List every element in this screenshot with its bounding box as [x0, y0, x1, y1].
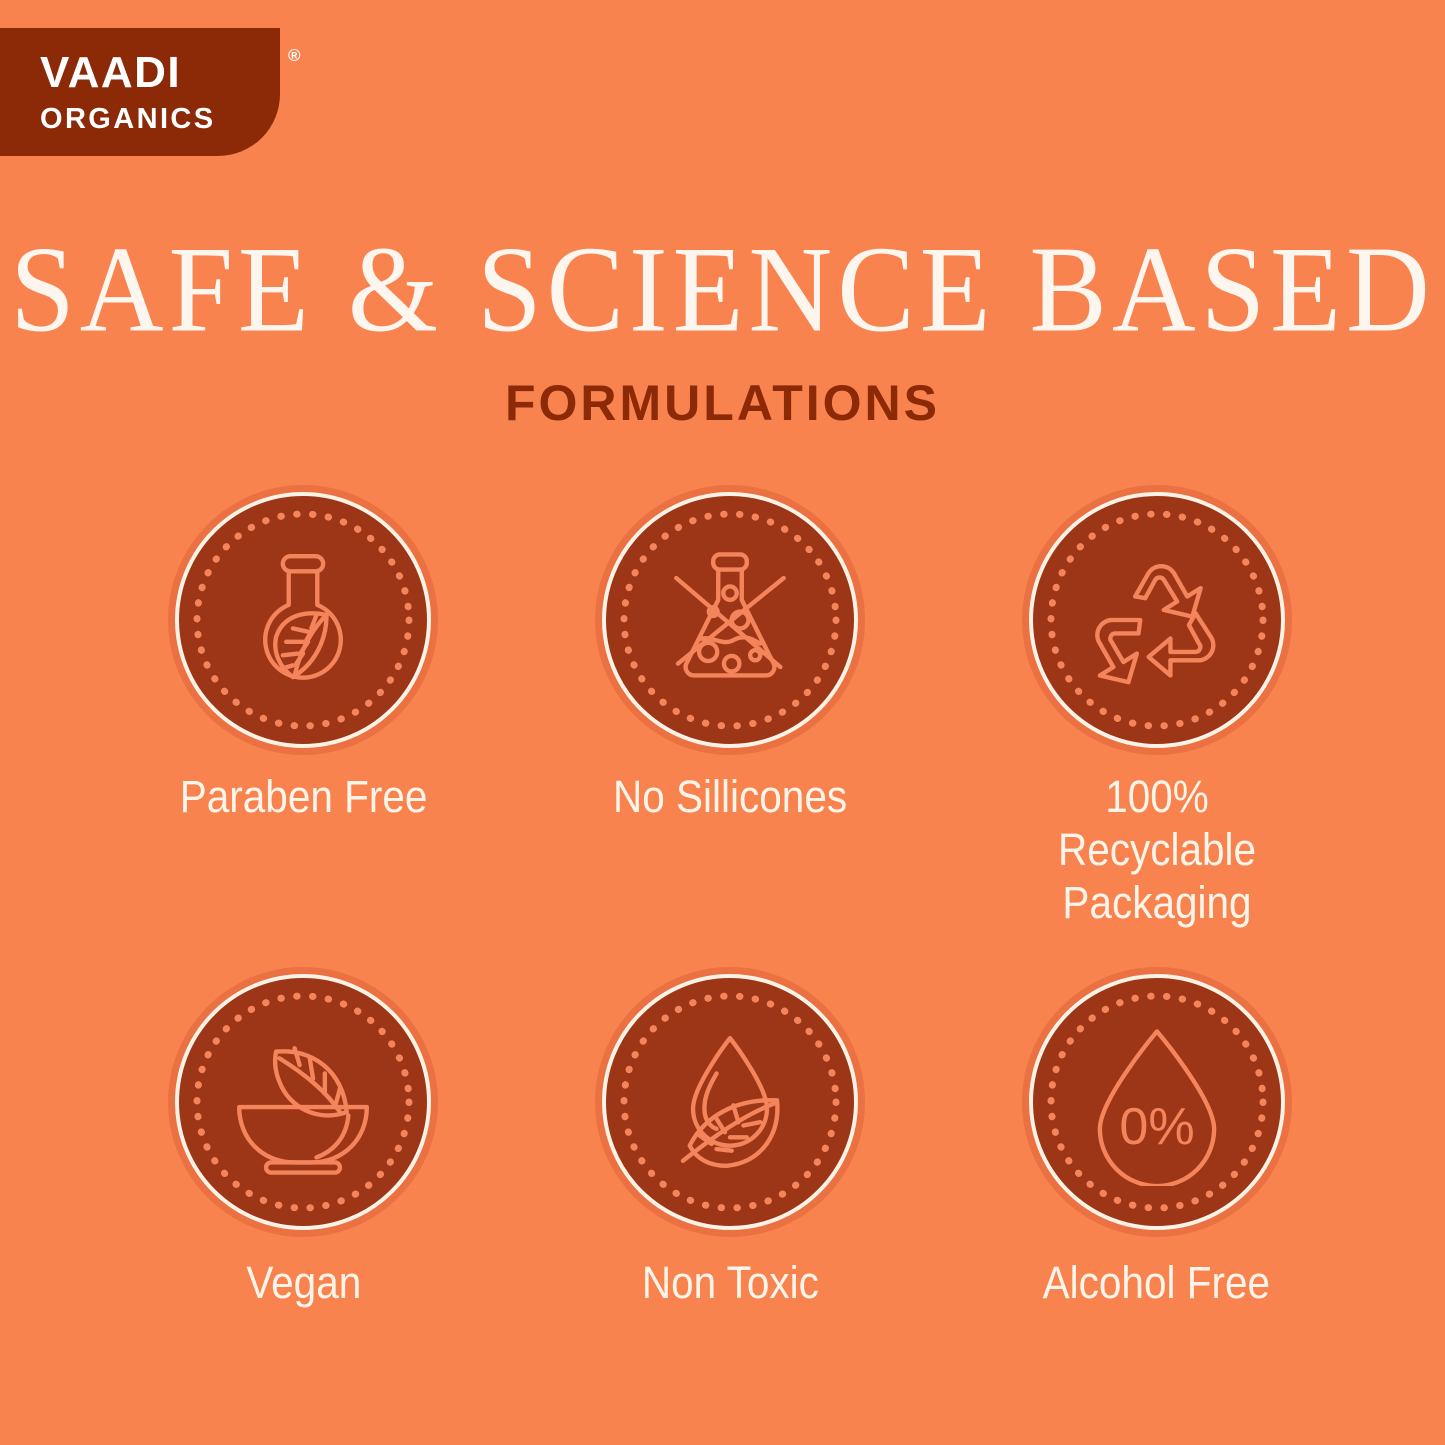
- badge-label: 100% Recyclable Packaging: [1008, 770, 1305, 929]
- recycling-arrows-icon: [1073, 536, 1241, 704]
- feature-badge-paraben-free: Paraben Free: [90, 492, 517, 929]
- badge-label: Paraben Free: [179, 770, 427, 823]
- badge-label: Vegan: [246, 1256, 361, 1309]
- badge-label: No Sillicones: [613, 770, 847, 823]
- flask-with-leaf-icon: [219, 536, 387, 704]
- badge-label: Non Toxic: [641, 1256, 818, 1309]
- droplet-zero-percent-icon: 0%: [1073, 1018, 1241, 1186]
- badge-disc: [175, 974, 431, 1230]
- feature-badge-no-sillicones: No Sillicones: [517, 492, 944, 929]
- brand-logo: VAADI ® ORGANICS: [0, 28, 280, 156]
- zero-percent-value: 0%: [1119, 1098, 1194, 1156]
- feature-badge-grid: Paraben Free: [90, 492, 1370, 1309]
- badge-disc: 0%: [1029, 974, 1285, 1230]
- page-subtitle: FORMULATIONS: [0, 378, 1445, 428]
- badge-disc: [602, 492, 858, 748]
- droplet-with-leaf-icon: [646, 1018, 814, 1186]
- brand-logo-inner: VAADI ® ORGANICS: [0, 28, 280, 156]
- feature-badge-alcohol-free: 0% Alcohol Free: [943, 974, 1370, 1309]
- registered-trademark-icon: ®: [288, 47, 302, 64]
- feature-badge-non-toxic: Non Toxic: [517, 974, 944, 1309]
- bowl-with-leaf-icon: [219, 1018, 387, 1186]
- badge-disc: [1029, 492, 1285, 748]
- badge-label: Alcohol Free: [1043, 1256, 1270, 1309]
- brand-wordmark: VAADI ®: [40, 51, 280, 95]
- page-title: SAFE & SCIENCE BASED: [0, 229, 1445, 352]
- brand-wordmark-text: VAADI: [40, 48, 181, 97]
- feature-badge-recyclable-packaging: 100% Recyclable Packaging: [943, 492, 1370, 929]
- badge-disc: [602, 974, 858, 1230]
- crossed-out-flask-icon: [646, 536, 814, 704]
- badge-disc: [175, 492, 431, 748]
- brand-subtitle: ORGANICS: [40, 105, 280, 134]
- feature-badge-vegan: Vegan: [90, 974, 517, 1309]
